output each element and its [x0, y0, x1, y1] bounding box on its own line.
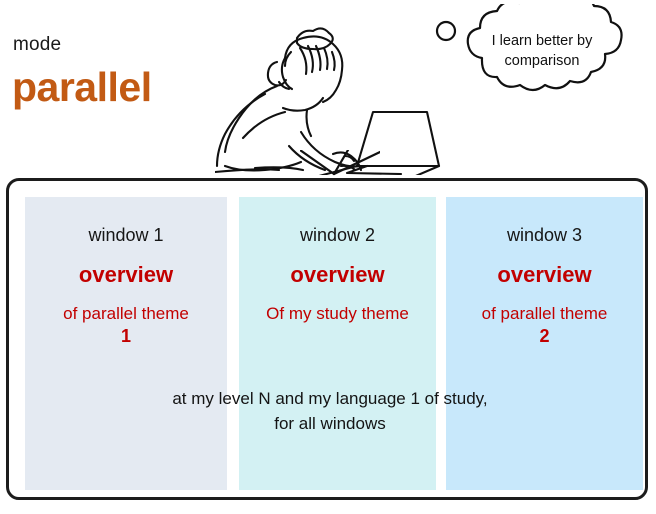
person-at-laptop-icon [215, 0, 445, 175]
window-panel-2-sub-text: Of my study theme [266, 304, 409, 323]
mode-label: mode [13, 34, 61, 56]
window-panel-3-subtitle: of parallel theme 2 [446, 302, 643, 348]
window-panel-1-subtitle: of parallel theme 1 [25, 302, 227, 348]
window-panel-2[interactable]: window 2 overview Of my study theme [239, 197, 436, 490]
window-panel-1-title: window 1 [25, 225, 227, 246]
window-panel-1-sub-number: 1 [25, 325, 227, 348]
window-panel-1-sub-text: of parallel theme [63, 304, 189, 323]
window-panel-2-title: window 2 [239, 225, 436, 246]
window-panel-1-overview: overview [25, 262, 227, 288]
mode-value: parallel [12, 64, 152, 111]
window-panel-3-overview: overview [446, 262, 643, 288]
window-panel-3-sub-text: of parallel theme [482, 304, 608, 323]
windows-container: window 1 overview of parallel theme 1 wi… [6, 178, 648, 500]
window-panel-2-overview: overview [239, 262, 436, 288]
window-panel-3-title: window 3 [446, 225, 643, 246]
window-panel-1[interactable]: window 1 overview of parallel theme 1 [25, 197, 227, 490]
window-panel-2-subtitle: Of my study theme [239, 302, 436, 325]
window-panel-3-sub-number: 2 [446, 325, 643, 348]
thought-bubble-text: I learn better by comparison [462, 31, 622, 71]
window-panel-3[interactable]: window 3 overview of parallel theme 2 [446, 197, 643, 490]
